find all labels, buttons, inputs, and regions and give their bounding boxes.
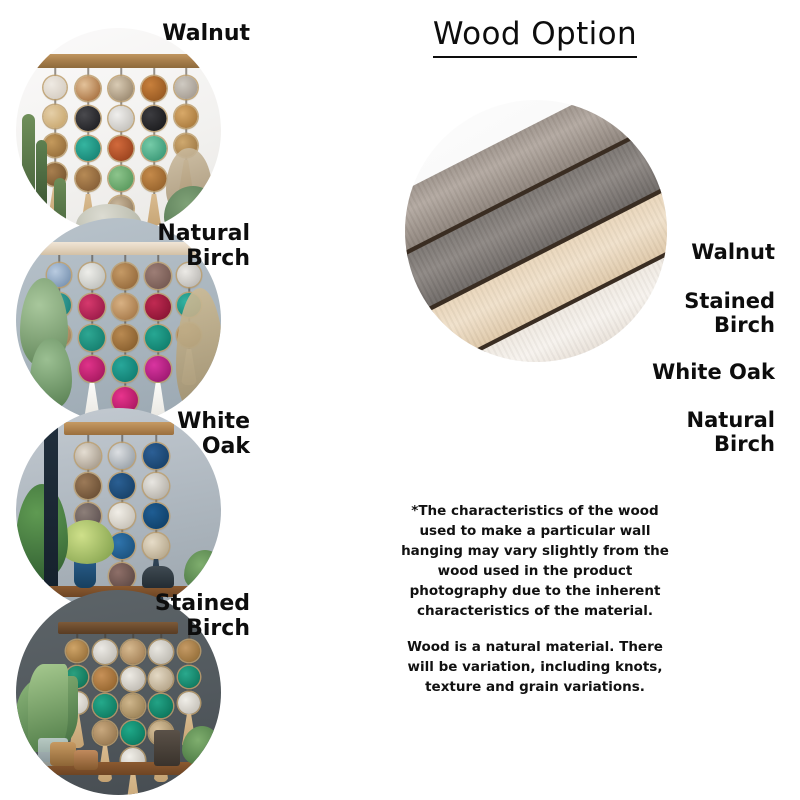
label-line-1: Natural <box>510 409 775 433</box>
disclaimer-paragraph-1: *The characteristics of the wood used to… <box>400 502 670 622</box>
label-line-1: White <box>60 410 250 435</box>
agate-strand <box>108 435 136 610</box>
label-line-1: Stained <box>560 290 775 314</box>
agate-strand <box>78 255 106 405</box>
foliage <box>60 520 114 564</box>
label-line-2: Oak <box>60 435 250 460</box>
photo-label-white-oak: White Oak <box>60 410 250 459</box>
page-title-text: Wood Option <box>433 17 637 58</box>
wood-label-white-oak: White Oak <box>560 361 775 385</box>
label-line-1: Natural <box>60 222 250 247</box>
wood-option-infographic: Wood Option <box>0 0 800 800</box>
foliage <box>16 484 68 580</box>
photo-label-natural-birch: Natural Birch <box>60 222 250 271</box>
decor-object <box>154 730 180 766</box>
product-photo-walnut <box>16 28 221 233</box>
agate-strand <box>111 255 139 423</box>
page-title: Wood Option <box>400 16 670 58</box>
agate-strand <box>74 68 102 218</box>
product-photo-column <box>0 0 240 800</box>
agate-strand <box>144 255 172 405</box>
wood-label-natural-birch: Natural Birch <box>510 409 775 456</box>
wood-label-walnut: Walnut <box>560 241 775 265</box>
label-line-2: Birch <box>560 314 775 338</box>
agate-strand <box>140 68 168 218</box>
photo-scene-walnut <box>16 28 221 233</box>
wall-edge <box>44 408 58 586</box>
cactus <box>22 114 35 209</box>
disclaimer-notes: *The characteristics of the wood used to… <box>400 502 670 698</box>
hanging-bar <box>36 54 201 68</box>
disclaimer-paragraph-2: Wood is a natural material. There will b… <box>400 638 670 698</box>
label-line-2: Birch <box>60 247 250 272</box>
foliage <box>184 550 221 592</box>
label-line-2: Birch <box>510 433 775 457</box>
label-line-2: Birch <box>60 617 250 642</box>
label-line-1: Stained <box>60 592 250 617</box>
cactus <box>36 140 47 212</box>
foliage <box>182 726 221 766</box>
photo-label-stained-birch: Stained Birch <box>60 592 250 641</box>
decor-object <box>142 566 174 588</box>
photo-label-walnut: Walnut <box>60 22 250 47</box>
basket <box>50 742 76 766</box>
basket <box>74 750 98 770</box>
wood-label-stained-birch: Stained Birch <box>560 290 775 337</box>
